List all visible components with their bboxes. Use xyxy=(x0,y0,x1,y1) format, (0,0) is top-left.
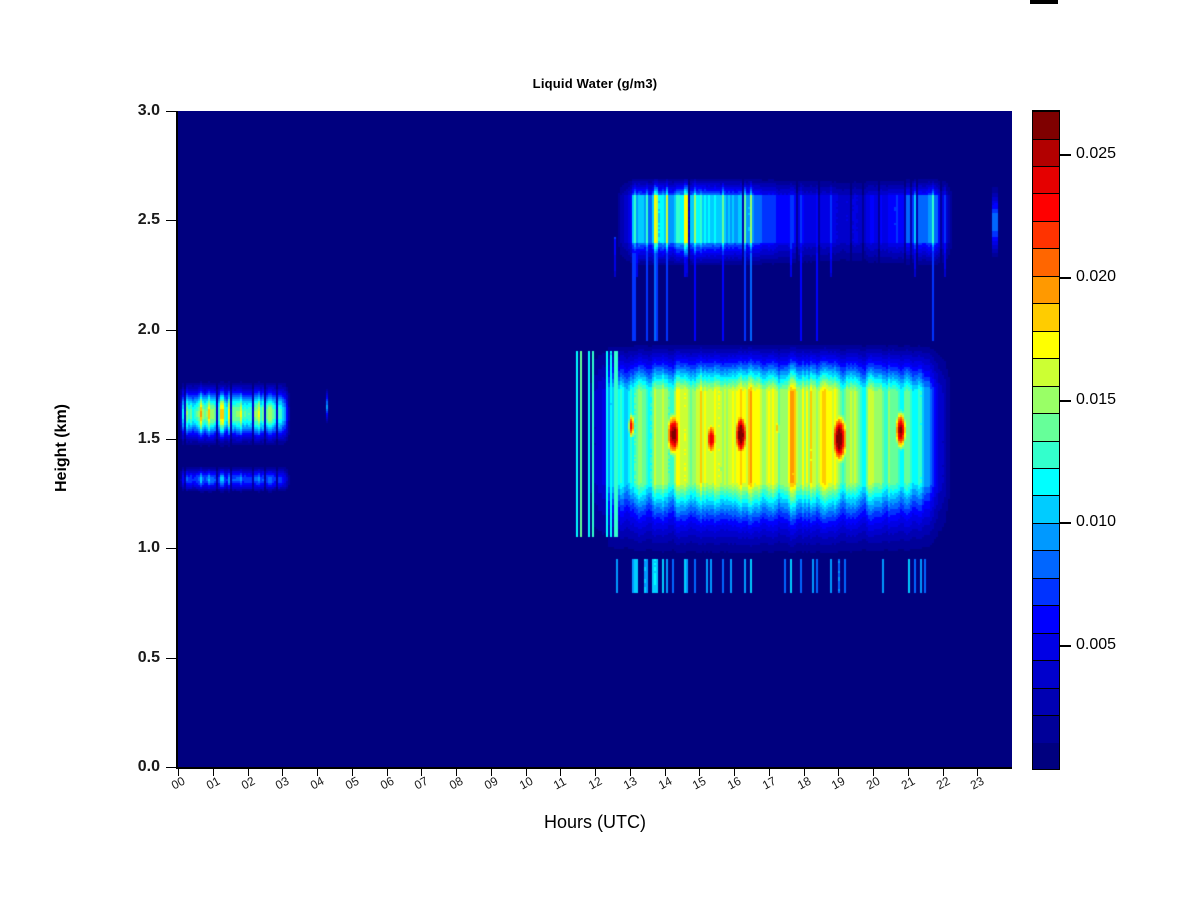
colorbar-cell xyxy=(1033,166,1059,193)
x-axis-tick-label: 16 xyxy=(725,774,743,793)
x-axis-tick-label: 04 xyxy=(308,774,326,793)
colorbar-cell xyxy=(1033,386,1059,413)
colorbar-cell xyxy=(1033,578,1059,605)
y-axis-tick-label: 3.0 xyxy=(108,102,160,120)
colorbar-cell xyxy=(1033,688,1059,715)
x-axis-tick-label: 03 xyxy=(273,774,291,793)
x-axis-tick-label: 02 xyxy=(239,774,257,793)
y-axis-line xyxy=(176,111,178,768)
colorbar-tick-mark xyxy=(1060,277,1071,279)
colorbar[interactable] xyxy=(1032,110,1060,770)
y-axis-tick-mark xyxy=(166,548,176,549)
x-axis-tick-label: 15 xyxy=(690,774,708,793)
x-axis-tick-label: 17 xyxy=(760,774,778,793)
colorbar-tick-mark xyxy=(1060,645,1071,647)
x-axis-tick-label: 19 xyxy=(829,774,847,793)
x-axis-tick-label: 00 xyxy=(169,774,187,793)
colorbar-tick-label: 0.020 xyxy=(1076,268,1116,286)
x-axis-tick-label: 22 xyxy=(934,774,952,793)
y-axis-tick-label: 0.0 xyxy=(108,758,160,776)
x-axis-tick-label: 13 xyxy=(621,774,639,793)
heatmap-plot-area[interactable] xyxy=(178,111,1012,767)
colorbar-cell xyxy=(1033,495,1059,522)
x-axis-tick-label: 09 xyxy=(482,774,500,793)
x-axis-tick-label: 14 xyxy=(656,774,674,793)
colorbar-cell xyxy=(1033,413,1059,440)
x-axis-tick-label: 18 xyxy=(795,774,813,793)
colorbar-tick-mark xyxy=(1060,154,1071,156)
colorbar-tick-mark xyxy=(1060,522,1071,524)
colorbar-cell xyxy=(1033,743,1059,769)
x-axis-tick-label: 12 xyxy=(586,774,604,793)
colorbar-cell xyxy=(1033,468,1059,495)
colorbar-cell xyxy=(1033,139,1059,166)
colorbar-cell xyxy=(1033,111,1059,138)
colorbar-cell xyxy=(1033,358,1059,385)
colorbar-cell xyxy=(1033,193,1059,220)
x-axis-tick-label: 20 xyxy=(864,774,882,793)
colorbar-cell xyxy=(1033,550,1059,577)
colorbar-cell xyxy=(1033,221,1059,248)
colorbar-cell xyxy=(1033,605,1059,632)
page-title: Liquid Water (g/m3) xyxy=(178,76,1012,91)
colorbar-cell xyxy=(1033,715,1059,742)
x-axis-tick-label: 21 xyxy=(899,774,917,793)
x-axis-tick-label: 11 xyxy=(551,774,569,792)
x-axis-tick-label: 07 xyxy=(412,774,430,793)
y-axis-tick-label: 0.5 xyxy=(108,649,160,667)
x-axis-tick-label: 06 xyxy=(378,774,396,793)
x-axis-tick-label: 10 xyxy=(517,774,535,793)
figure-canvas: Liquid Water (g/m3) 0.00.51.01.52.02.53.… xyxy=(0,0,1200,900)
colorbar-cell xyxy=(1033,633,1059,660)
top-edge-artifact xyxy=(1030,0,1058,4)
colorbar-cell xyxy=(1033,523,1059,550)
y-axis-tick-label: 1.5 xyxy=(108,430,160,448)
y-axis-tick-mark xyxy=(166,767,176,768)
colorbar-cell xyxy=(1033,660,1059,687)
y-axis-tick-mark xyxy=(166,658,176,659)
y-axis-tick-label: 2.0 xyxy=(108,321,160,339)
colorbar-tick-mark xyxy=(1060,400,1071,402)
x-axis-tick-label: 05 xyxy=(343,774,361,793)
colorbar-tick-label: 0.010 xyxy=(1076,513,1116,531)
x-axis-line xyxy=(176,767,1012,769)
y-axis-tick-label: 2.5 xyxy=(108,211,160,229)
x-axis-tick-label: 08 xyxy=(447,774,465,793)
y-axis-tick-label: 1.0 xyxy=(108,539,160,557)
colorbar-cell xyxy=(1033,276,1059,303)
colorbar-cell xyxy=(1033,441,1059,468)
y-axis-title: Height (km) xyxy=(53,348,71,548)
colorbar-tick-label: 0.005 xyxy=(1076,636,1116,654)
x-axis-tick-label: 01 xyxy=(204,774,222,793)
colorbar-cell xyxy=(1033,331,1059,358)
heatmap-canvas xyxy=(178,111,1012,767)
colorbar-tick-label: 0.025 xyxy=(1076,145,1116,163)
colorbar-cell xyxy=(1033,248,1059,275)
x-axis-title: Hours (UTC) xyxy=(178,812,1012,833)
colorbar-tick-label: 0.015 xyxy=(1076,391,1116,409)
y-axis-tick-mark xyxy=(166,111,176,112)
y-axis-tick-mark xyxy=(166,330,176,331)
x-axis-tick-label: 23 xyxy=(968,774,986,793)
y-axis-tick-mark xyxy=(166,439,176,440)
y-axis-tick-mark xyxy=(166,220,176,221)
colorbar-cell xyxy=(1033,303,1059,330)
